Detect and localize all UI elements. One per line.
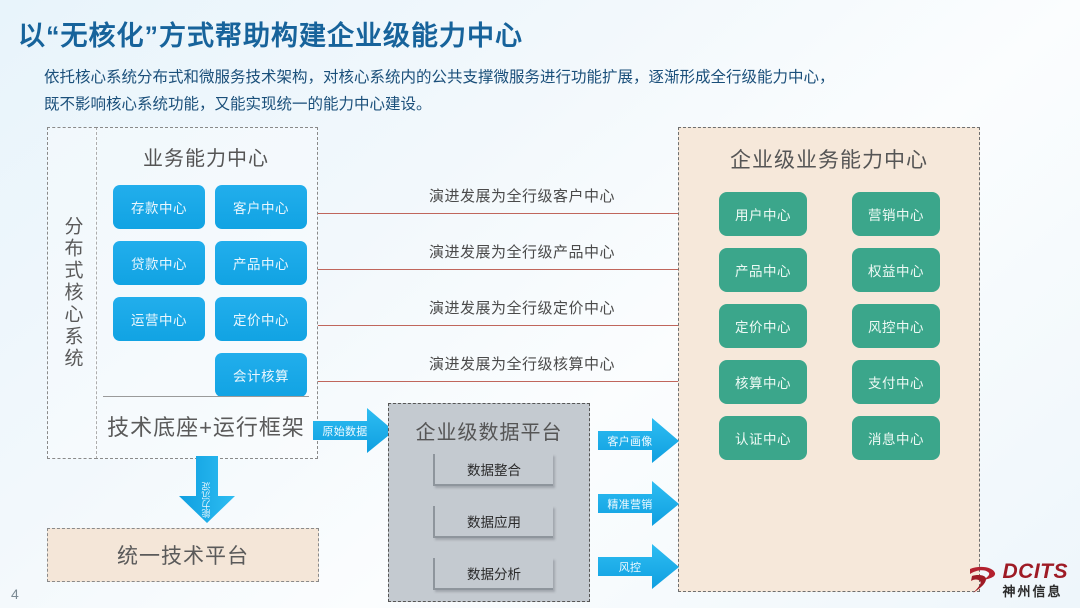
- page-title: 以“无核化”方式帮助构建企业级能力中心: [18, 14, 523, 53]
- enterprise-box-marketing[interactable]: 营销中心: [852, 192, 940, 236]
- enterprise-box-pricing[interactable]: 定价中心: [719, 304, 807, 348]
- capability-box-accounting[interactable]: 会计核算: [215, 353, 307, 397]
- capability-box-deposit[interactable]: 存款中心: [113, 185, 205, 229]
- enterprise-data-platform-panel: 企业级数据平台 数据整合 数据应用 数据分析: [388, 403, 590, 602]
- capability-box-product[interactable]: 产品中心: [215, 241, 307, 285]
- evolution-line: [318, 269, 726, 270]
- slide-canvas: 以“无核化”方式帮助构建企业级能力中心 依托核心系统分布式和微服务技术架构，对核…: [0, 0, 1080, 608]
- evolution-line: [318, 213, 726, 214]
- precision-marketing-arrow: 精准营销: [598, 481, 680, 527]
- subtitle-line-1: 依托核心系统分布式和微服务技术架构，对核心系统内的公共支撑微服务进行功能扩展，逐…: [44, 64, 994, 91]
- enterprise-box-payment[interactable]: 支付中心: [852, 360, 940, 404]
- risk-control-label: 风控: [602, 559, 658, 575]
- enterprise-box-accounting[interactable]: 核算中心: [719, 360, 807, 404]
- raw-data-arrow: 原始数据: [313, 408, 395, 454]
- distributed-core-system-column: 分布式核心系统: [47, 127, 97, 459]
- data-platform-item-analysis[interactable]: 数据分析: [433, 558, 553, 590]
- enterprise-box-product[interactable]: 产品中心: [719, 248, 807, 292]
- data-platform-item-application[interactable]: 数据应用: [433, 506, 553, 538]
- logo-cn-text: 神州信息: [1003, 585, 1069, 598]
- capability-box-operation[interactable]: 运营中心: [113, 297, 205, 341]
- raw-data-label: 原始数据: [317, 423, 373, 439]
- precision-marketing-label: 精准营销: [602, 496, 658, 512]
- logo-en-text: DCITS: [1003, 561, 1069, 582]
- capability-box-loan[interactable]: 贷款中心: [113, 241, 205, 285]
- customer-profile-label: 客户画像: [602, 433, 658, 449]
- data-platform-item-integration[interactable]: 数据整合: [433, 454, 553, 486]
- capability-precipitation-arrow: 能力沉淀: [178, 456, 236, 524]
- enterprise-box-message[interactable]: 消息中心: [852, 416, 940, 460]
- evolution-label-accounting: 演进发展为全行级核算中心: [318, 353, 726, 374]
- enterprise-data-platform-title: 企业级数据平台: [389, 416, 589, 445]
- page-subtitle: 依托核心系统分布式和微服务技术架构，对核心系统内的公共支撑微服务进行功能扩展，逐…: [44, 64, 994, 118]
- business-capability-center-panel: 业务能力中心 存款中心 客户中心 贷款中心 产品中心 运营中心 定价中心 会计核…: [95, 127, 318, 459]
- enterprise-box-riskctrl[interactable]: 风控中心: [852, 304, 940, 348]
- evolution-label-product: 演进发展为全行级产品中心: [318, 241, 726, 262]
- evolution-line: [318, 325, 726, 326]
- enterprise-box-auth[interactable]: 认证中心: [719, 416, 807, 460]
- enterprise-capability-center-panel: 企业级业务能力中心 用户中心 营销中心 产品中心 权益中心 定价中心 风控中心 …: [678, 127, 980, 592]
- capability-box-customer[interactable]: 客户中心: [215, 185, 307, 229]
- distributed-core-system-label: 分布式核心系统: [60, 216, 85, 370]
- evolution-line: [318, 381, 726, 382]
- enterprise-capability-center-title: 企业级业务能力中心: [679, 144, 979, 174]
- company-logo: DCITS 神州信息: [967, 561, 1069, 598]
- enterprise-box-user[interactable]: 用户中心: [719, 192, 807, 236]
- capability-precipitation-label: 能力沉淀: [202, 482, 213, 518]
- capability-box-pricing[interactable]: 定价中心: [215, 297, 307, 341]
- subtitle-line-2: 既不影响核心系统功能，又能实现统一的能力中心建设。: [44, 91, 994, 118]
- dcits-logo-icon: [967, 563, 997, 597]
- evolution-label-pricing: 演进发展为全行级定价中心: [318, 297, 726, 318]
- risk-control-arrow: 风控: [598, 544, 680, 590]
- unified-tech-platform-label: 统一技术平台: [117, 540, 249, 570]
- enterprise-box-equity[interactable]: 权益中心: [852, 248, 940, 292]
- evolution-label-customer: 演进发展为全行级客户中心: [318, 185, 726, 206]
- tech-foundation-label: 技术底座+运行框架: [103, 396, 309, 455]
- business-capability-center-title: 业务能力中心: [95, 142, 317, 171]
- page-number: 4: [11, 586, 19, 602]
- customer-profile-arrow: 客户画像: [598, 418, 680, 464]
- unified-tech-platform-box[interactable]: 统一技术平台: [47, 528, 319, 582]
